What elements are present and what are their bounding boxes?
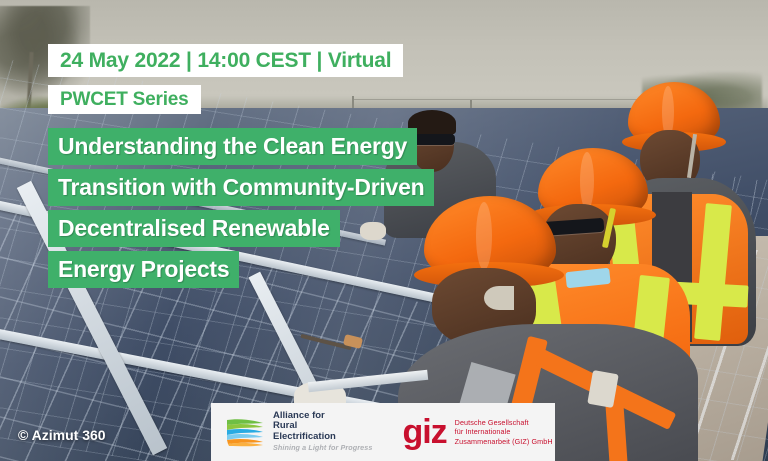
are-logo-text: Alliance for Rural Electrification Shini… bbox=[273, 411, 372, 454]
event-title: Understanding the Clean Energy Transitio… bbox=[48, 128, 434, 292]
giz-name-line: für Internationale bbox=[455, 427, 553, 436]
event-banner: 24 May 2022 | 14:00 CEST | Virtual PWCET… bbox=[0, 0, 768, 461]
hardhat-ridge-foreground bbox=[476, 202, 492, 270]
photo-credit: © Azimut 360 bbox=[18, 427, 106, 443]
event-series-band: PWCET Series bbox=[48, 85, 201, 114]
logo-bar: Alliance for Rural Electrification Shini… bbox=[211, 403, 555, 461]
title-line: Energy Projects bbox=[48, 251, 239, 288]
event-series-text: PWCET Series bbox=[60, 89, 189, 111]
are-name-line: Electrification bbox=[273, 432, 372, 443]
event-date-band: 24 May 2022 | 14:00 CEST | Virtual bbox=[48, 44, 403, 77]
giz-wordmark: giz bbox=[402, 417, 446, 447]
giz-name-line: Zusammenarbeit (GIZ) GmbH bbox=[455, 437, 553, 446]
title-line: Transition with Community-Driven bbox=[48, 169, 434, 206]
giz-name-line: Deutsche Gesellschaft bbox=[455, 418, 553, 427]
are-logo-icon bbox=[225, 417, 265, 447]
title-line: Understanding the Clean Energy bbox=[48, 128, 417, 165]
title-line: Decentralised Renewable bbox=[48, 210, 340, 247]
giz-logo-text: Deutsche Gesellschaft für Internationale… bbox=[455, 418, 553, 446]
logo-alliance-for-rural-electrification[interactable]: Alliance for Rural Electrification Shini… bbox=[225, 411, 372, 454]
are-tagline: Shining a Light for Progress bbox=[273, 443, 372, 453]
hardhat-suspension bbox=[484, 286, 514, 310]
logo-giz[interactable]: giz Deutsche Gesellschaft für Internatio… bbox=[402, 417, 552, 447]
event-date-text: 24 May 2022 | 14:00 CEST | Virtual bbox=[60, 49, 391, 73]
